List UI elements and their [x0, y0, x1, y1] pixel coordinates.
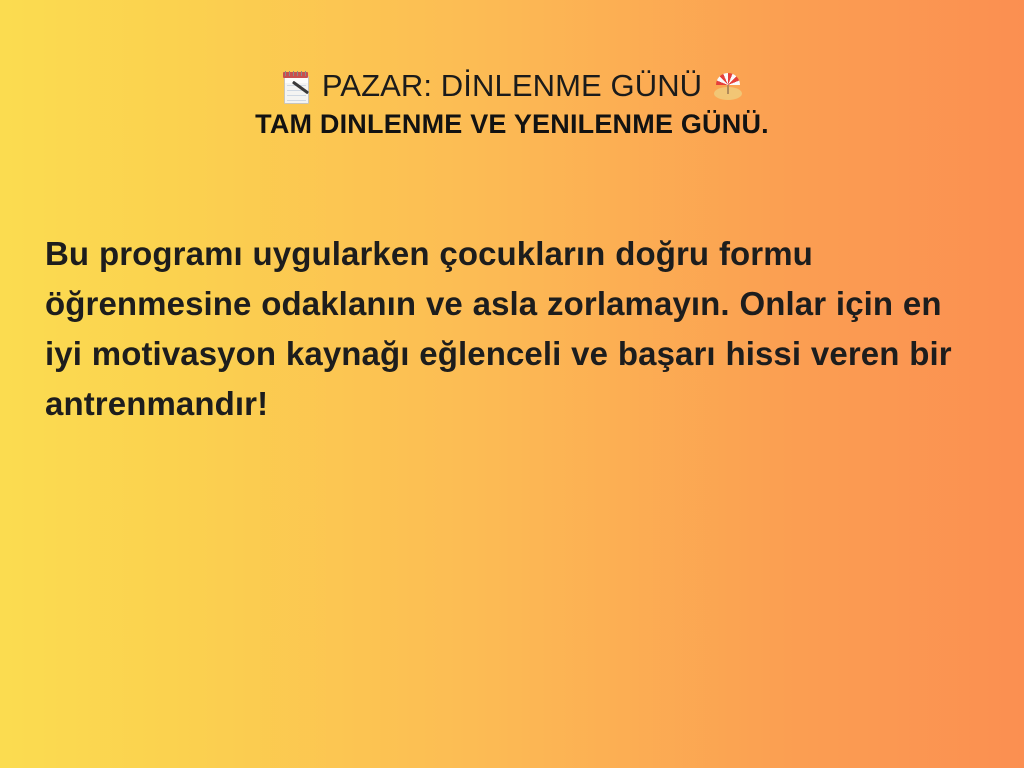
heading-line-2: TAM DINLENME VE YENILENME GÜNÜ. [0, 107, 1024, 141]
beach-umbrella-icon [711, 70, 745, 104]
heading-line-1: PAZAR: DİNLENME GÜNÜ [0, 66, 1024, 106]
heading-line-1-text: PAZAR: DİNLENME GÜNÜ [322, 68, 702, 103]
spiral-notepad-icon [279, 70, 313, 104]
slide-body: Bu programı uygularken çocukların doğru … [45, 229, 975, 429]
slide-canvas: PAZAR: DİNLENME GÜNÜ TAM DINLENME VE YEN… [0, 0, 1024, 768]
body-paragraph: Bu programı uygularken çocukların doğru … [45, 229, 975, 429]
slide-heading: PAZAR: DİNLENME GÜNÜ TAM DINLENME VE YEN… [0, 66, 1024, 141]
